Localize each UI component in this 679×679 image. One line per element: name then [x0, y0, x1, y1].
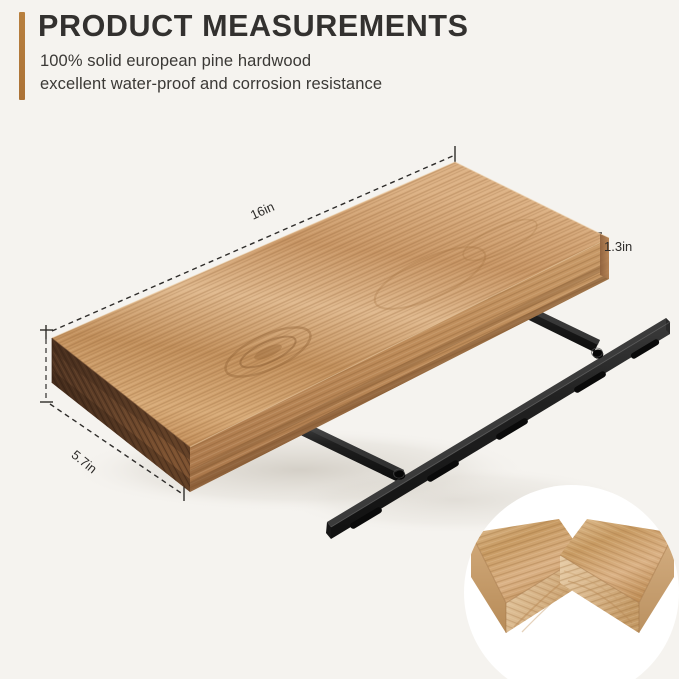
dimension-label-thickness: 1.3in [604, 239, 632, 254]
infographic-canvas: PRODUCT MEASUREMENTS 100% solid european… [0, 0, 679, 679]
